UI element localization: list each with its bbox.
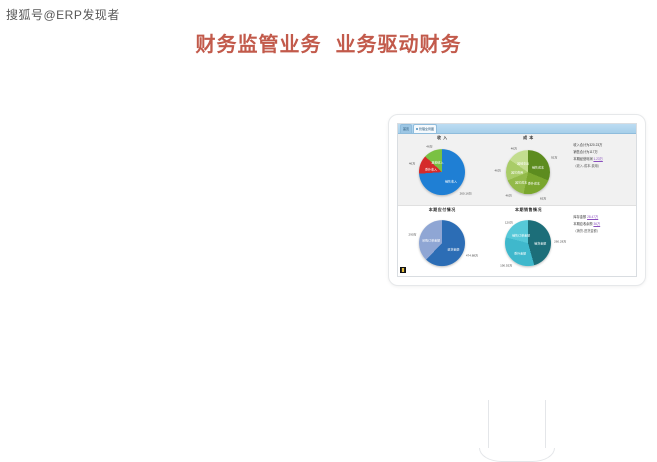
summary-panel-bottom: 库存金额 28.47万 本期应收余额 36万 （销货-进货金额） bbox=[570, 206, 636, 277]
tab-dashboard[interactable]: 管理全局图 bbox=[413, 124, 437, 133]
pie-value-label: 46万 bbox=[506, 194, 512, 197]
pie-value-label: 46万 bbox=[511, 148, 517, 151]
chart-cost-plot: 销售成本92万委外成本65万其它成本46万其它费用46万其他支出46万 bbox=[487, 141, 571, 205]
app-tabbar: 首页 管理全局图 bbox=[398, 124, 636, 134]
summary-profit-row: 本期经营利润 1.23万 bbox=[573, 156, 602, 163]
chart-revenue-pie bbox=[419, 149, 465, 195]
summary-inventory-row: 库存金额 28.47万 bbox=[573, 214, 598, 221]
dashboard-row-top: 收 入 销售收入260.16万委外收入46万其他收入46万 成 本 销售成本92… bbox=[398, 134, 636, 206]
summary-receivable-row: 本期应收余额 36万 bbox=[573, 221, 600, 228]
pie-value-label: 190.55万 bbox=[500, 265, 512, 268]
chart-sales-plot: 销货金额260.28万委外金额190.55万销售订单金额120万 bbox=[487, 213, 571, 277]
chart-sales-pie bbox=[505, 220, 551, 266]
chart-revenue-plot: 销售收入260.16万委外收入46万其他收入46万 bbox=[398, 141, 487, 205]
summary-profit-formula: （收入-成本-费用） bbox=[573, 163, 601, 170]
dashboard: 收 入 销售收入260.16万委外收入46万其他收入46万 成 本 销售成本92… bbox=[398, 134, 636, 276]
chart-cost-pie bbox=[506, 150, 550, 194]
chart-sales: 本期销售情况 销货金额260.28万委外金额190.55万销售订单金额120万 bbox=[487, 206, 571, 277]
pie-value-label: 46万 bbox=[495, 170, 501, 173]
pie-value-label: 260.28万 bbox=[554, 240, 566, 243]
summary-receivable-formula: （销货-进货金额） bbox=[573, 228, 600, 235]
summary-receivable-value[interactable]: 36万 bbox=[593, 222, 600, 226]
pie-value-label: 290万 bbox=[409, 233, 417, 236]
chart-revenue: 收 入 销售收入260.16万委外收入46万其他收入46万 bbox=[398, 134, 487, 205]
monitor-stand-base bbox=[479, 448, 555, 462]
dashboard-row-bottom: 本期应付情况 进货金额474.88万采购订单金额290万 本期销售情况 销货金额… bbox=[398, 206, 636, 277]
chart-cost: 成 本 销售成本92万委外成本65万其它成本46万其它费用46万其他支出46万 bbox=[487, 134, 571, 205]
page-title-part-2: 业务驱动财务 bbox=[336, 34, 462, 56]
chart-cost-title: 成 本 bbox=[523, 136, 534, 140]
summary-panel-top: 收入合计为320.23万 销售合计为117万 本期经营利润 1.23万 （收入-… bbox=[570, 134, 636, 205]
chart-payable-plot: 进货金额474.88万采购订单金额290万 bbox=[398, 213, 487, 277]
pie-value-label: 92万 bbox=[551, 157, 557, 160]
pie-value-label: 120万 bbox=[505, 221, 513, 224]
tab-dashboard-icon bbox=[416, 128, 418, 130]
tab-home-label: 首页 bbox=[403, 128, 409, 131]
chart-payable-title: 本期应付情况 bbox=[429, 208, 456, 212]
summary-sales-total: 销售合计为117万 bbox=[573, 149, 597, 156]
monitor-illustration: 首页 管理全局图 收 入 销售收入260.16万委外收入46万其他收入46万 成… bbox=[388, 114, 646, 286]
pie-value-label: 474.88万 bbox=[466, 255, 478, 258]
summary-revenue-total: 收入合计为320.23万 bbox=[573, 142, 602, 149]
summary-receivable-label: 本期应收余额 bbox=[573, 222, 592, 226]
page-title: 财务监管业务业务驱动财务 bbox=[0, 28, 657, 57]
pie-value-label: 260.16万 bbox=[460, 192, 472, 195]
chart-payable-pie bbox=[419, 220, 465, 266]
watermark: 搜狐号@ERP发现者 bbox=[6, 6, 120, 23]
page-title-part-1: 财务监管业务 bbox=[196, 34, 322, 56]
summary-inventory-label: 库存金额 bbox=[573, 215, 586, 219]
summary-profit-label: 本期经营利润 bbox=[573, 157, 592, 161]
pie-value-label: 46万 bbox=[426, 146, 432, 149]
pie-value-label: 65万 bbox=[540, 197, 546, 200]
chart-payable: 本期应付情况 进货金额474.88万采购订单金额290万 bbox=[398, 206, 487, 277]
chart-sales-title: 本期销售情况 bbox=[515, 208, 542, 212]
chart-revenue-title: 收 入 bbox=[437, 136, 448, 140]
pie-value-label: 46万 bbox=[409, 163, 415, 166]
summary-inventory-value[interactable]: 28.47万 bbox=[587, 215, 598, 219]
badge-icon bbox=[400, 267, 406, 273]
summary-profit-value[interactable]: 1.23万 bbox=[593, 157, 602, 161]
tab-home[interactable]: 首页 bbox=[400, 124, 412, 133]
monitor-screen: 首页 管理全局图 收 入 销售收入260.16万委外收入46万其他收入46万 成… bbox=[397, 123, 637, 277]
tab-dashboard-label: 管理全局图 bbox=[419, 128, 434, 131]
